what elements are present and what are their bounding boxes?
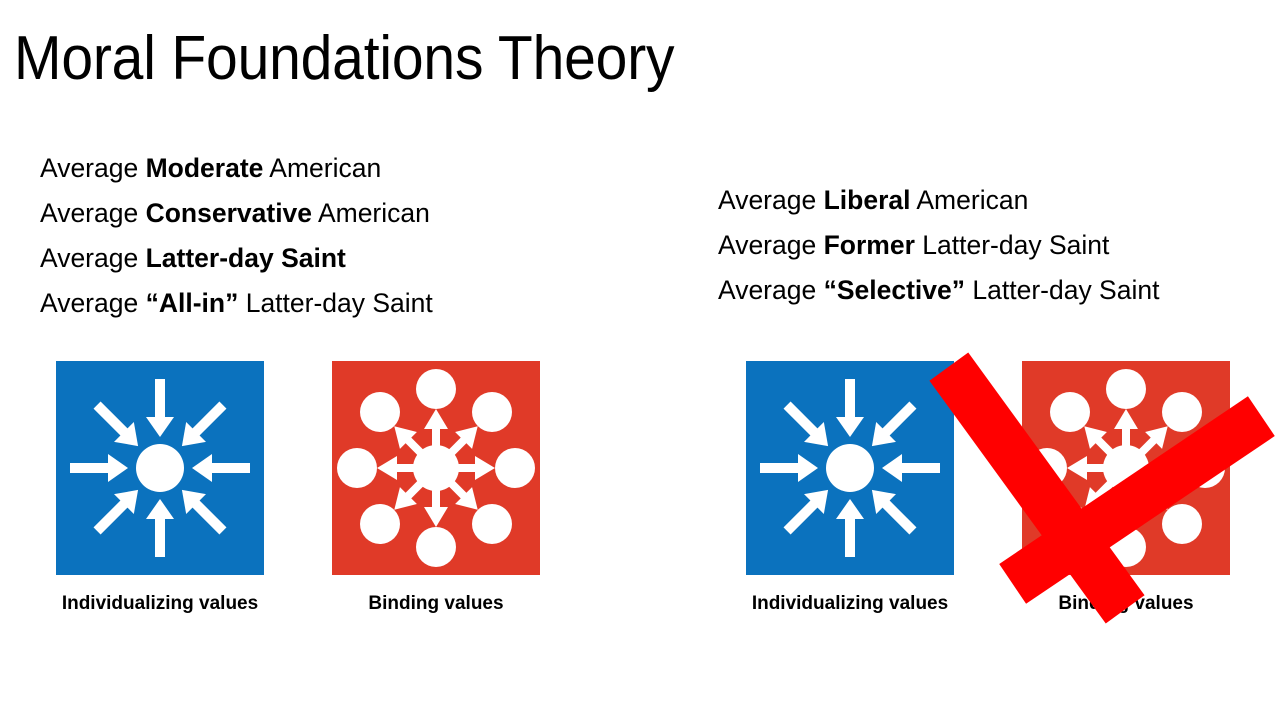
line-emphasis: Liberal [824,185,911,215]
line-prefix: Average [40,198,146,228]
left-binding-block: Binding values [332,361,540,575]
left-text-line-4: Average “All-in” Latter-day Saint [40,281,433,326]
line-emphasis: “Selective” [824,275,965,305]
line-emphasis: Former [824,230,915,260]
line-suffix: Latter-day Saint [238,288,432,318]
line-prefix: Average [718,185,824,215]
right-text-line-2: Average Former Latter-day Saint [718,223,1159,268]
line-emphasis: “All-in” [146,288,239,318]
slide-canvas: Moral Foundations Theory Average Moderat… [0,0,1280,720]
left-individualizing-block: Individualizing values [56,361,264,575]
line-emphasis: Moderate [146,153,264,183]
line-prefix: Average [40,153,146,183]
line-emphasis: Conservative [146,198,312,228]
line-prefix: Average [718,230,824,260]
left-binding-caption: Binding values [332,593,540,615]
right-icon-cluster: Individualizing values [746,361,1236,621]
right-binding-block: Binding values [1022,361,1230,575]
line-suffix: American [312,198,430,228]
arrows-radiating-icon [332,361,540,575]
line-suffix: Latter-day Saint [965,275,1159,305]
line-suffix: American [263,153,381,183]
left-text-line-3: Average Latter-day Saint [40,236,433,281]
line-prefix: Average [40,288,146,318]
left-individualizing-caption: Individualizing values [56,593,264,615]
right-text-group: Average Liberal American Average Former … [718,178,1159,313]
icon-pair: Individualizing values [56,361,546,621]
left-icon-cluster: Individualizing values [56,361,546,621]
right-text-line-3: Average “Selective” Latter-day Saint [718,268,1159,313]
left-text-group: Average Moderate American Average Conser… [40,146,433,326]
line-prefix: Average [40,243,146,273]
right-binding-caption: Binding values [1022,593,1230,615]
right-text-line-1: Average Liberal American [718,178,1159,223]
right-individualizing-block: Individualizing values [746,361,954,575]
line-emphasis: Latter-day Saint [146,243,346,273]
page-title: Moral Foundations Theory [14,26,674,91]
icon-pair: Individualizing values [746,361,1236,621]
line-suffix: American [910,185,1028,215]
arrows-radiating-icon [1022,361,1230,575]
left-text-line-2: Average Conservative American [40,191,433,236]
left-text-line-1: Average Moderate American [40,146,433,191]
line-prefix: Average [718,275,824,305]
arrows-converging-icon [746,361,954,575]
arrows-converging-icon [56,361,264,575]
right-individualizing-caption: Individualizing values [746,593,954,615]
line-suffix: Latter-day Saint [915,230,1109,260]
